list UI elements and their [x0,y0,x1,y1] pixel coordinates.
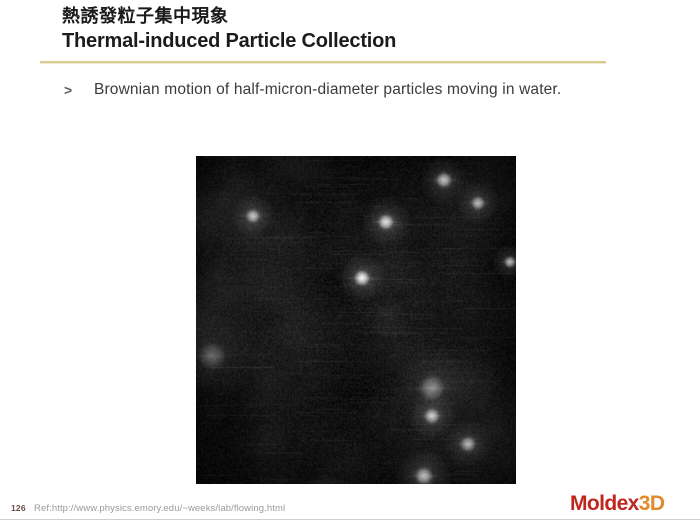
bullet-list-item: > Brownian motion of half-micron-diamete… [64,78,644,102]
title-divider-shadow [40,63,606,64]
reference-link[interactable]: Ref:http://www.physics.emory.edu/~weeks/… [34,503,285,514]
microscopy-figure [196,156,516,484]
footer-divider [0,519,700,520]
logo-suffix-text: 3D [639,492,665,515]
bullet-item-label: Brownian motion of half-micron-diameter … [94,78,561,102]
page-number: 126 [11,503,26,513]
particle-image-canvas [196,156,516,484]
slide-canvas: 熱誘發粒子集中現象 Thermal-induced Particle Colle… [0,0,700,525]
page-title: Thermal-induced Particle Collection [62,28,642,54]
page-title-cjk: 熱誘發粒子集中現象 [62,6,642,28]
slide-title-block: 熱誘發粒子集中現象 Thermal-induced Particle Colle… [62,6,642,54]
moldex3d-logo: Moldex3D [570,492,664,516]
logo-main-text: Moldex [570,492,639,515]
bullet-chevron-icon: > [64,78,94,102]
